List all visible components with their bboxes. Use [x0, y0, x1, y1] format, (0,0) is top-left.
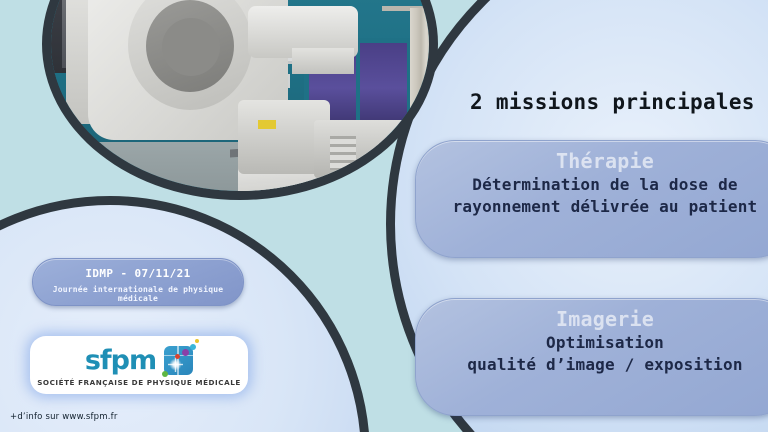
- mission-line: rayonnement délivrée au patient: [416, 196, 768, 218]
- mission-card-imagerie: Imagerie Optimisation qualité d’image / …: [415, 298, 768, 416]
- event-badge: IDMP - 07/11/21 Journée internationale d…: [32, 258, 244, 306]
- mark-dot-cyan: [190, 344, 196, 350]
- sfpm-starburst-icon: [164, 346, 193, 375]
- page-title: 2 missions principales :: [470, 90, 768, 114]
- mission-card-therapie: Thérapie Détermination de la dose de ray…: [415, 140, 768, 258]
- treatment-room-photo: [42, 0, 438, 200]
- mission-body-therapie: Détermination de la dose de rayonnement …: [416, 174, 768, 217]
- mark-dot-yellow: [195, 339, 199, 343]
- footer-info: +d’info sur www.sfpm.fr: [10, 412, 118, 422]
- mission-line: Détermination de la dose de: [416, 174, 768, 196]
- linac-vents: [330, 136, 356, 170]
- mission-line: qualité d’image / exposition: [416, 354, 768, 376]
- sfpm-subtitle: SOCIÉTÉ FRANÇAISE DE PHYSIQUE MÉDICALE: [37, 378, 241, 387]
- photo-inner: [42, 0, 438, 200]
- linac-display-led: [258, 120, 276, 129]
- mark-dot-green: [162, 371, 168, 377]
- gantry-bore-core: [162, 18, 220, 76]
- mission-line: Optimisation: [416, 332, 768, 354]
- window-mullion: [356, 43, 360, 125]
- event-badge-subtitle: Journée internationale de physique médic…: [33, 285, 243, 303]
- slide-root: 2 missions principales : Thérapie Déterm…: [0, 0, 768, 432]
- mark-dot-purple: [182, 349, 189, 356]
- linac-arm: [292, 48, 354, 74]
- mark-starburst: [168, 357, 183, 372]
- sfpm-logo-row: sfpm: [85, 346, 193, 375]
- mission-body-imagerie: Optimisation qualité d’image / expositio…: [416, 332, 768, 375]
- mission-title-therapie: Thérapie: [416, 150, 768, 173]
- sfpm-wordmark: sfpm: [85, 347, 156, 374]
- event-badge-date: IDMP - 07/11/21: [33, 267, 243, 280]
- mission-title-imagerie: Imagerie: [416, 308, 768, 331]
- sfpm-logo-plate: sfpm SOCIÉTÉ FRANÇAISE DE PHYSIQUE MÉDIC…: [30, 336, 248, 394]
- mark-dot-red: [175, 354, 180, 359]
- linac-secondary-block: [314, 120, 406, 178]
